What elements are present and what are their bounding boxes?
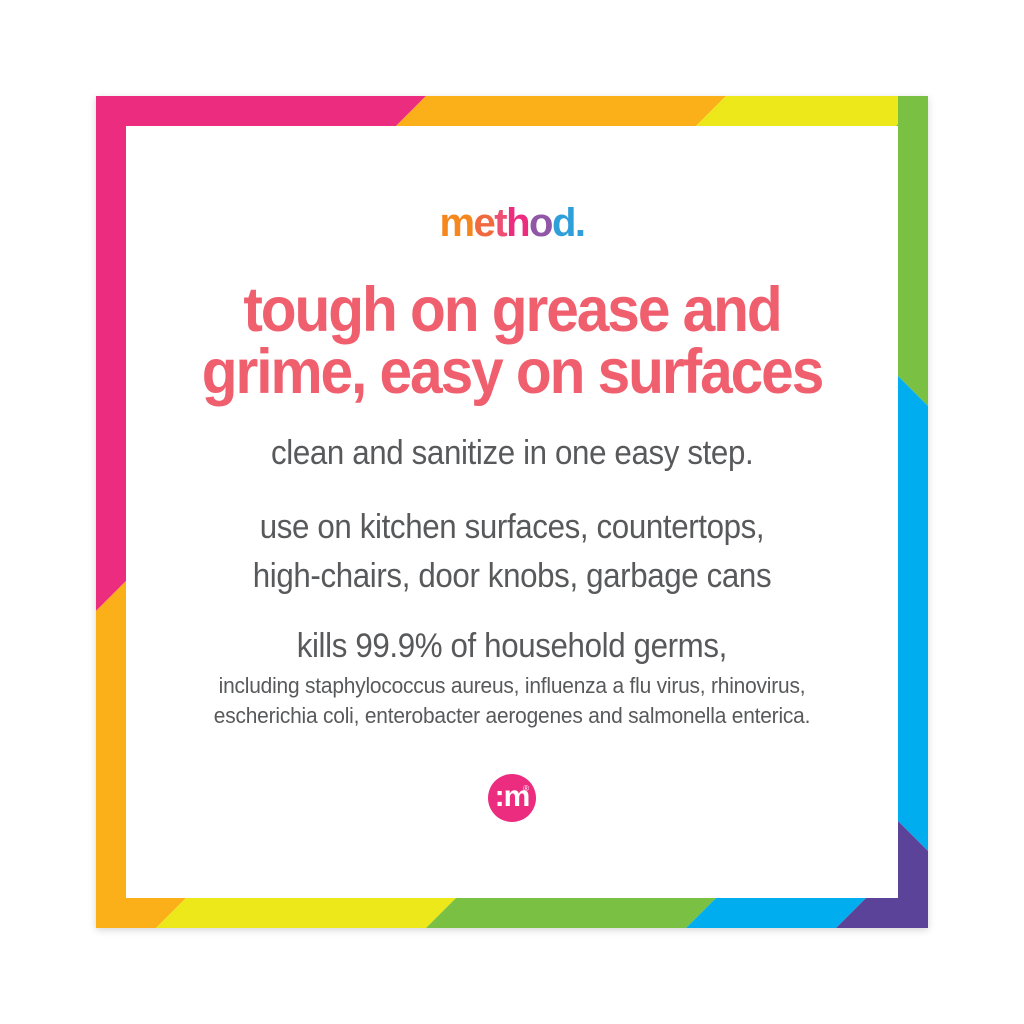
wordmark-letter-m: m — [439, 203, 473, 243]
lede-text: clean and sanitize in one easy step. — [271, 434, 753, 473]
headline-line-1: tough on grease and — [159, 279, 866, 341]
frame-top-pink — [96, 96, 426, 126]
usage-instructions: use on kitchen surfaces, countertops, hi… — [153, 503, 871, 601]
fineprint-line-2: escherichia coli, enterobacter aerogenes… — [137, 701, 888, 731]
product-label-card: method. tough on grease and grime, easy … — [96, 96, 928, 928]
frame-bottom-yellow — [156, 898, 456, 928]
germ-kill-claim: kills 99.9% of household germs, — [297, 627, 727, 666]
registered-trademark-icon: ® — [523, 785, 529, 793]
frame-top-green — [896, 96, 928, 126]
frame-bottom-green — [426, 898, 716, 928]
method-circle-logo: :m ® — [488, 774, 536, 822]
fineprint-line-1: including staphylococcus aureus, influen… — [137, 671, 888, 701]
frame-right-purple — [898, 821, 928, 928]
frame-top-yellow — [696, 96, 926, 126]
germ-list-fineprint: including staphylococcus aureus, influen… — [137, 671, 888, 730]
frame-left-pink — [96, 96, 126, 611]
label-content: method. tough on grease and grime, easy … — [126, 126, 898, 898]
headline: tough on grease and grime, easy on surfa… — [159, 279, 866, 404]
method-wordmark: method. — [439, 203, 584, 243]
usage-line-1: use on kitchen surfaces, countertops, — [153, 503, 871, 552]
frame-corner-top-left — [96, 96, 126, 126]
wordmark-letter-e: e — [474, 203, 495, 243]
frame-bottom-cyan — [686, 898, 866, 928]
wordmark-letter-h: h — [506, 203, 529, 243]
wordmark-letter-d: d — [552, 203, 575, 243]
wordmark-letter-t: t — [494, 203, 506, 243]
frame-right-green — [898, 96, 928, 406]
headline-line-2: grime, easy on surfaces — [159, 341, 866, 403]
frame-bottom-purple — [836, 898, 928, 928]
frame-left-orange — [96, 581, 126, 928]
frame-bottom-orange — [96, 898, 186, 928]
wordmark-period: . — [575, 203, 585, 243]
wordmark-letter-o: o — [529, 203, 552, 243]
frame-right-cyan — [898, 376, 928, 851]
frame-top-orange — [396, 96, 726, 126]
usage-line-2: high-chairs, door knobs, garbage cans — [153, 552, 871, 601]
